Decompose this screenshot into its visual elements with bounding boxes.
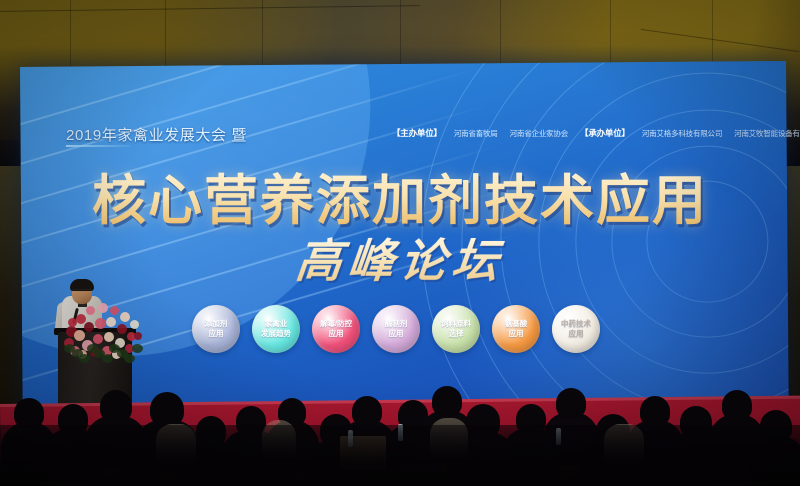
audience-member-head <box>432 386 462 416</box>
topic-badge: 氨基酸应用 <box>492 305 540 353</box>
flower-blossom <box>120 312 130 322</box>
speaker-glasses <box>73 289 91 294</box>
flower-blossom <box>86 306 95 315</box>
host-tag: 【主办单位】 <box>392 127 442 139</box>
topic-badge: 饲料原料选择 <box>432 305 480 353</box>
organizers-row: 【主办单位】 河南省畜牧局 河南省企业家协会 【承办单位】 河南艾格多科技有限公… <box>392 127 800 139</box>
flower-blossom <box>110 306 119 315</box>
flower-greenery <box>132 344 143 353</box>
organizer-name-1: 河南艾格多科技有限公司 <box>642 128 722 139</box>
topic-badges-row: 添加剂应用家禽业发展趋势解毒/防控应用酶制剂应用饲料原料选择氨基酸应用中药技术应… <box>192 305 600 353</box>
host-name-1: 河南省畜牧局 <box>454 128 498 139</box>
subtitle: 高峰论坛 <box>293 236 506 286</box>
flower-blossom <box>93 334 103 344</box>
topic-badge-line: 应用 <box>329 329 344 339</box>
conference-photo-scene: 2019年家禽业发展大会 暨 【主办单位】 河南省畜牧局 河南省企业家协会 【承… <box>0 0 800 486</box>
flower-blossom <box>98 303 108 313</box>
topic-badge-line: 解毒/防控 <box>320 319 352 329</box>
topic-badge-line: 发展趋势 <box>261 329 291 339</box>
host-name-2: 河南省企业家协会 <box>510 128 568 139</box>
topic-badge-line: 添加剂 <box>205 319 228 329</box>
flower-blossom <box>134 332 142 340</box>
topic-badge: 解毒/防控应用 <box>312 305 360 353</box>
topic-badge-line: 应用 <box>389 329 404 339</box>
topic-badge-line: 酶制剂 <box>385 319 408 329</box>
flower-blossom <box>104 332 114 342</box>
main-title: 核心营养添加剂技术应用 <box>92 172 708 230</box>
topic-badge: 酶制剂应用 <box>372 305 420 353</box>
topic-badge-line: 选择 <box>449 329 464 339</box>
audience-member-head <box>640 396 670 426</box>
topic-badge-line: 应用 <box>209 329 224 339</box>
audience-member-head <box>722 390 752 420</box>
foreground-shadow <box>0 425 800 486</box>
audience-member-head <box>556 388 586 418</box>
flower-blossom <box>117 324 127 334</box>
topic-badge-line: 家禽业 <box>265 319 288 329</box>
audience-member-head <box>352 396 382 426</box>
flower-blossom <box>130 320 139 329</box>
flower-blossom <box>68 318 77 327</box>
organizer-tag: 【承办单位】 <box>580 127 630 139</box>
flower-greenery <box>102 354 113 363</box>
topic-badge: 中药技术应用 <box>552 305 600 353</box>
event-line-underline <box>66 145 130 147</box>
flower-arrangement <box>62 300 150 362</box>
flower-blossom <box>95 318 106 329</box>
audience-member-head <box>150 392 184 426</box>
topic-badge-line: 应用 <box>509 329 524 339</box>
topic-badge-line: 中药技术 <box>561 319 591 329</box>
organizer-name-2: 河南艾牧智能设备有限公司 <box>734 128 800 139</box>
topic-badge-line: 氨基酸 <box>505 319 528 329</box>
event-line: 2019年家禽业发展大会 暨 <box>66 124 247 145</box>
flower-blossom <box>106 317 116 327</box>
flower-blossom <box>74 330 85 341</box>
topic-badge-line: 应用 <box>569 329 584 339</box>
topic-badge: 家禽业发展趋势 <box>252 305 300 353</box>
audience-member-head <box>100 390 132 422</box>
topic-badge: 添加剂应用 <box>192 305 240 353</box>
flower-blossom <box>84 322 94 332</box>
topic-badge-line: 饲料原料 <box>441 319 471 329</box>
flower-greenery <box>124 354 135 363</box>
flower-greenery <box>79 354 90 363</box>
audience-member-head <box>14 398 44 428</box>
